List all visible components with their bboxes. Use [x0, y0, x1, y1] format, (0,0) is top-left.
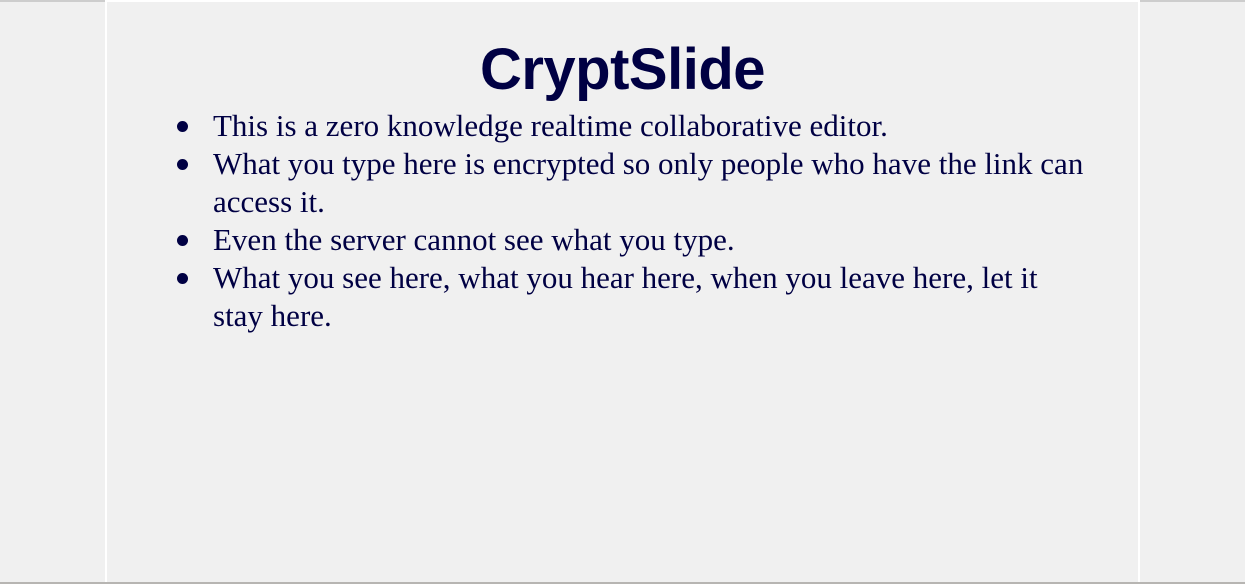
list-item-label: This is a zero knowledge realtime collab…	[213, 107, 1086, 145]
bullet-point-icon	[177, 159, 188, 170]
list-item: This is a zero knowledge realtime collab…	[177, 107, 1086, 145]
list-item-label: Even the server cannot see what you type…	[213, 221, 1086, 259]
list-item: What you see here, what you hear here, w…	[177, 259, 1086, 335]
slide-bullet-list: This is a zero knowledge realtime collab…	[107, 107, 1138, 335]
slide-panel[interactable]: CryptSlide This is a zero knowledge real…	[105, 0, 1140, 582]
list-item: What you type here is encrypted so only …	[177, 145, 1086, 221]
page-title: CryptSlide	[107, 2, 1138, 101]
bullet-point-icon	[177, 273, 188, 284]
bullet-point-icon	[177, 121, 188, 132]
list-item-label: What you type here is encrypted so only …	[213, 145, 1086, 221]
list-item-label: What you see here, what you hear here, w…	[213, 259, 1086, 335]
list-item: Even the server cannot see what you type…	[177, 221, 1086, 259]
slide-viewer: CryptSlide This is a zero knowledge real…	[0, 0, 1245, 584]
bullet-point-icon	[177, 235, 188, 246]
